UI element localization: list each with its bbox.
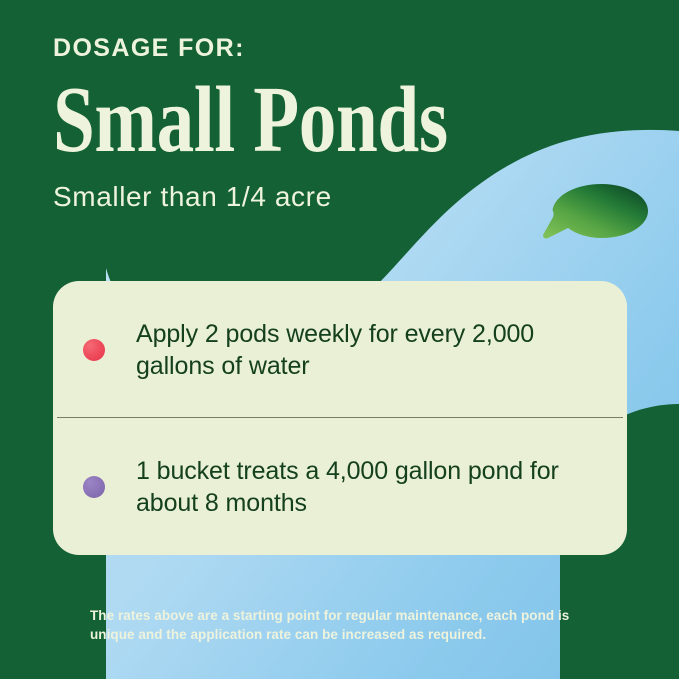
eyebrow-label: DOSAGE FOR: <box>53 36 613 61</box>
page-title: Small Ponds <box>53 77 501 163</box>
list-item: Apply 2 pods weekly for every 2,000 gall… <box>53 281 627 418</box>
card-divider <box>57 417 623 418</box>
header-block: DOSAGE FOR: Small Ponds Smaller than 1/4… <box>53 36 613 211</box>
dosage-poster: DOSAGE FOR: Small Ponds Smaller than 1/4… <box>0 0 679 679</box>
subtitle-label: Smaller than 1/4 acre <box>53 183 613 211</box>
dosage-card: Apply 2 pods weekly for every 2,000 gall… <box>53 281 627 555</box>
disclaimer-text: The rates above are a starting point for… <box>90 606 610 645</box>
bullet-dot-purple <box>83 476 105 498</box>
bullet-dot-red <box>83 339 105 361</box>
list-item-label: Apply 2 pods weekly for every 2,000 gall… <box>136 318 605 382</box>
list-item: 1 bucket treats a 4,000 gallon pond for … <box>53 418 627 555</box>
list-item-label: 1 bucket treats a 4,000 gallon pond for … <box>136 455 605 519</box>
dosage-list: Apply 2 pods weekly for every 2,000 gall… <box>53 281 627 555</box>
